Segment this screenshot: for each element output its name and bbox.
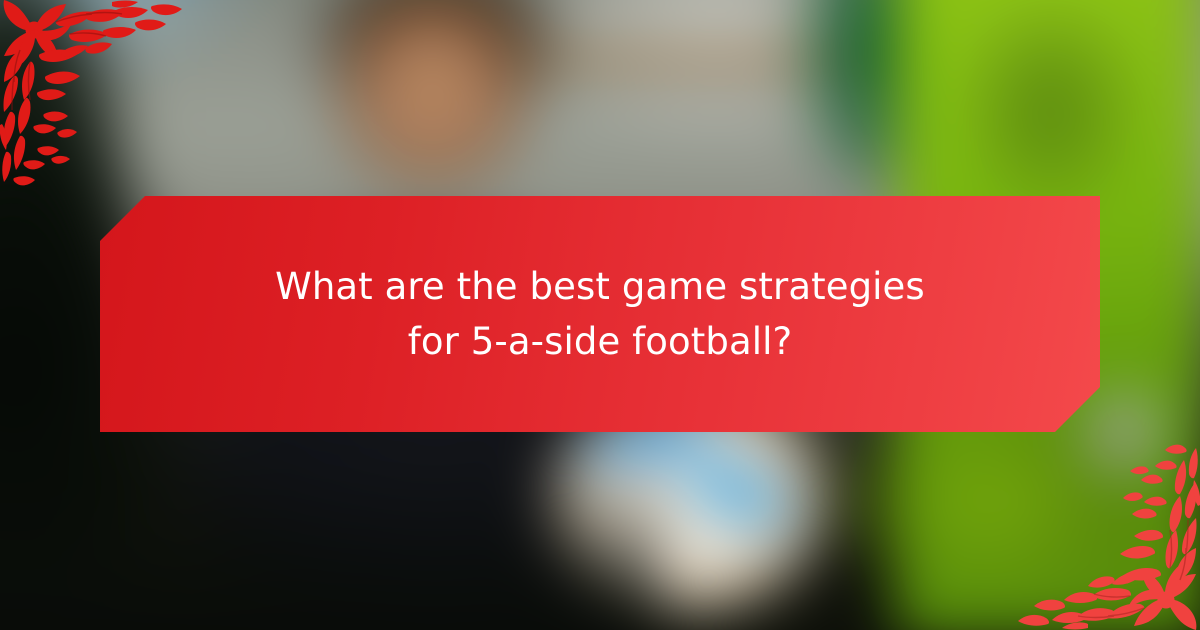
headline-banner: What are the best game strategies for 5-… <box>100 196 1100 432</box>
background-bottom-vignette <box>0 458 664 630</box>
social-card: What are the best game strategies for 5-… <box>0 0 1200 630</box>
page-title: What are the best game strategies for 5-… <box>250 259 950 370</box>
